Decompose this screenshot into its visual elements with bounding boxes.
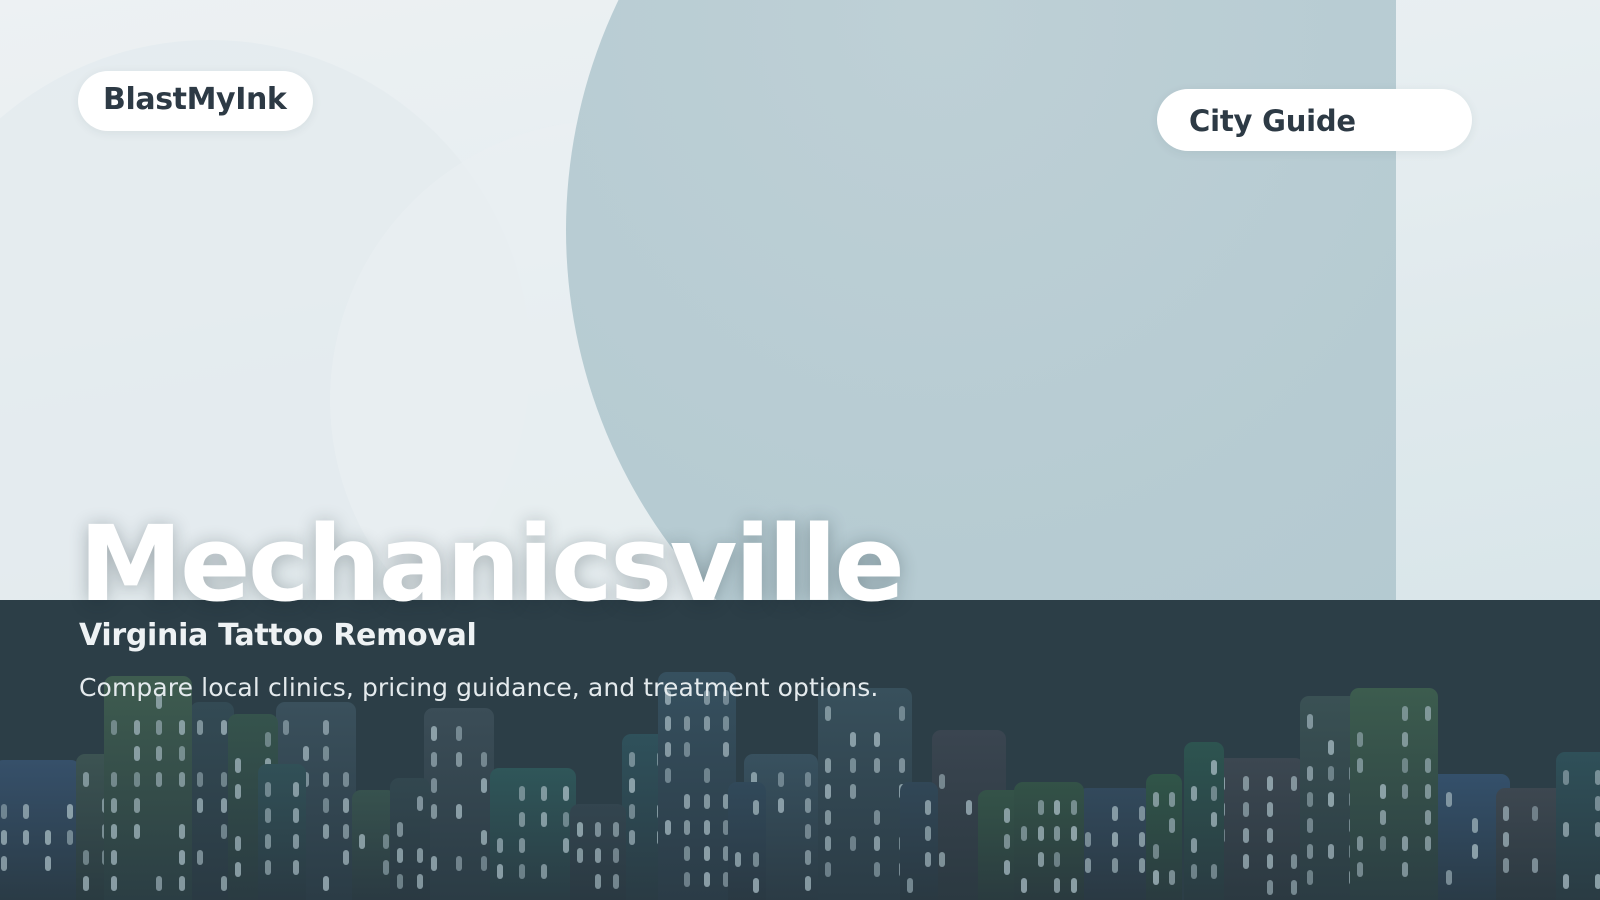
building-window	[778, 798, 784, 813]
building-window	[577, 848, 583, 863]
building-window	[481, 778, 487, 793]
building-window	[1054, 826, 1060, 841]
building-window	[723, 716, 729, 731]
building-window	[519, 838, 525, 853]
building-window	[1004, 808, 1010, 823]
building-window	[704, 872, 710, 887]
building-window	[1307, 792, 1313, 807]
building-window	[265, 808, 271, 823]
building-window	[323, 746, 329, 761]
building-window	[359, 834, 365, 849]
page-subtitle: Virginia Tattoo Removal	[79, 618, 477, 653]
building-window	[1243, 776, 1249, 791]
building-window	[221, 772, 227, 787]
building-window	[1503, 858, 1509, 873]
building-window	[1446, 792, 1452, 807]
building-window	[925, 800, 931, 815]
skyline-building	[390, 778, 430, 900]
building-window	[417, 796, 423, 811]
skyline-building	[818, 688, 912, 900]
building-window	[1307, 870, 1313, 885]
skyline-building	[1078, 788, 1152, 900]
building-window	[1153, 844, 1159, 859]
building-window	[235, 836, 241, 851]
building-window	[1267, 802, 1273, 817]
building-window	[1472, 818, 1478, 833]
building-window	[753, 800, 759, 815]
building-window	[134, 824, 140, 839]
building-window	[805, 824, 811, 839]
building-window	[1563, 822, 1569, 837]
building-window	[45, 856, 51, 871]
building-window	[221, 824, 227, 839]
skyline-building	[1212, 758, 1304, 900]
building-window	[179, 824, 185, 839]
skyline-building	[570, 804, 626, 900]
building-window	[519, 786, 525, 801]
building-window	[1038, 826, 1044, 841]
building-window	[197, 798, 203, 813]
building-window	[265, 782, 271, 797]
building-window	[111, 720, 117, 735]
building-window	[613, 874, 619, 889]
building-window	[1211, 786, 1217, 801]
building-window	[1563, 770, 1569, 785]
building-window	[563, 812, 569, 827]
building-window	[1307, 844, 1313, 859]
building-window	[417, 874, 423, 889]
building-window	[1071, 800, 1077, 815]
building-window	[704, 716, 710, 731]
building-window	[156, 876, 162, 891]
building-window	[1357, 758, 1363, 773]
building-window	[1532, 806, 1538, 821]
building-window	[1021, 826, 1027, 841]
building-window	[343, 850, 349, 865]
building-window	[1112, 832, 1118, 847]
building-window	[805, 876, 811, 891]
building-window	[1357, 732, 1363, 747]
skyline-building	[0, 760, 80, 900]
building-window	[1004, 860, 1010, 875]
building-window	[1402, 862, 1408, 877]
building-window	[1211, 760, 1217, 775]
building-window	[134, 746, 140, 761]
building-window	[778, 772, 784, 787]
skyline-building	[1146, 774, 1182, 900]
building-window	[111, 876, 117, 891]
building-window	[1402, 758, 1408, 773]
building-window	[1503, 806, 1509, 821]
building-window	[179, 850, 185, 865]
building-window	[481, 856, 487, 871]
building-window	[1038, 852, 1044, 867]
building-window	[1139, 806, 1145, 821]
building-window	[497, 864, 503, 879]
building-window	[431, 778, 437, 793]
building-window	[179, 876, 185, 891]
building-window	[1291, 776, 1297, 791]
building-window	[907, 878, 913, 893]
building-window	[925, 826, 931, 841]
building-window	[323, 824, 329, 839]
building-window	[156, 772, 162, 787]
building-window	[1595, 796, 1600, 811]
building-window	[1153, 792, 1159, 807]
building-window	[197, 850, 203, 865]
building-window	[704, 794, 710, 809]
building-window	[1595, 822, 1600, 837]
building-window	[481, 830, 487, 845]
building-window	[1243, 854, 1249, 869]
city-guide-badge-label: City Guide	[1189, 104, 1356, 138]
building-window	[156, 720, 162, 735]
building-window	[1307, 766, 1313, 781]
building-window	[541, 812, 547, 827]
building-window	[1004, 834, 1010, 849]
brand-logo-label: BlastMyInk	[103, 82, 286, 117]
building-window	[684, 716, 690, 731]
building-window	[825, 706, 831, 721]
building-window	[805, 798, 811, 813]
building-window	[179, 772, 185, 787]
building-window	[1153, 870, 1159, 885]
building-window	[753, 852, 759, 867]
building-window	[23, 804, 29, 819]
building-window	[1328, 740, 1334, 755]
building-window	[519, 812, 525, 827]
building-window	[134, 720, 140, 735]
building-window	[1532, 858, 1538, 873]
building-window	[735, 852, 741, 867]
building-window	[1, 804, 7, 819]
building-window	[1307, 714, 1313, 729]
building-window	[825, 862, 831, 877]
building-window	[684, 820, 690, 835]
building-window	[1425, 810, 1431, 825]
city-guide-hero: BlastMyInk City Guide Mechanicsville Vir…	[0, 0, 1600, 900]
building-window	[83, 876, 89, 891]
building-window	[283, 720, 289, 735]
building-window	[134, 772, 140, 787]
building-window	[629, 752, 635, 767]
building-window	[595, 848, 601, 863]
building-window	[343, 824, 349, 839]
building-window	[1139, 858, 1145, 873]
building-window	[1472, 844, 1478, 859]
building-window	[1563, 874, 1569, 889]
building-window	[156, 746, 162, 761]
page-title: Mechanicsville	[79, 509, 902, 619]
building-window	[1425, 784, 1431, 799]
building-window	[323, 720, 329, 735]
building-window	[519, 864, 525, 879]
building-window	[265, 860, 271, 875]
building-window	[1085, 858, 1091, 873]
building-window	[1038, 800, 1044, 815]
building-window	[111, 798, 117, 813]
building-window	[684, 846, 690, 861]
building-window	[1267, 828, 1273, 843]
building-window	[1307, 818, 1313, 833]
building-window	[874, 758, 880, 773]
building-window	[665, 768, 671, 783]
skyline-building	[1556, 752, 1600, 900]
building-window	[577, 822, 583, 837]
building-window	[1503, 832, 1509, 847]
building-window	[1054, 878, 1060, 893]
building-window	[595, 874, 601, 889]
building-window	[1380, 810, 1386, 825]
building-window	[45, 830, 51, 845]
building-window	[397, 874, 403, 889]
building-window	[665, 742, 671, 757]
building-window	[456, 752, 462, 767]
building-window	[293, 782, 299, 797]
building-window	[1021, 878, 1027, 893]
building-window	[431, 804, 437, 819]
building-window	[1169, 818, 1175, 833]
building-window	[1112, 858, 1118, 873]
building-window	[343, 772, 349, 787]
building-window	[1595, 874, 1600, 889]
building-window	[1054, 800, 1060, 815]
building-window	[1402, 784, 1408, 799]
building-window	[23, 830, 29, 845]
building-window	[704, 768, 710, 783]
building-window	[541, 786, 547, 801]
building-window	[1328, 792, 1334, 807]
building-window	[293, 834, 299, 849]
building-window	[235, 862, 241, 877]
building-window	[850, 836, 856, 851]
building-window	[1402, 836, 1408, 851]
building-window	[111, 824, 117, 839]
building-window	[1243, 802, 1249, 817]
building-window	[221, 720, 227, 735]
building-window	[825, 836, 831, 851]
building-window	[925, 852, 931, 867]
building-window	[629, 830, 635, 845]
building-window	[1, 856, 7, 871]
building-window	[1191, 838, 1197, 853]
building-window	[665, 820, 671, 835]
skyline-building	[258, 764, 306, 900]
building-window	[1191, 864, 1197, 879]
building-window	[899, 758, 905, 773]
building-window	[805, 850, 811, 865]
building-window	[481, 752, 487, 767]
building-window	[397, 848, 403, 863]
building-window	[684, 742, 690, 757]
building-window	[629, 778, 635, 793]
building-window	[67, 804, 73, 819]
building-window	[323, 772, 329, 787]
building-window	[456, 804, 462, 819]
building-window	[899, 706, 905, 721]
building-window	[684, 794, 690, 809]
building-window	[1267, 854, 1273, 869]
building-window	[1291, 880, 1297, 895]
building-window	[456, 856, 462, 871]
building-window	[456, 726, 462, 741]
page-description: Compare local clinics, pricing guidance,…	[79, 673, 878, 702]
building-window	[431, 752, 437, 767]
skyline-building	[104, 676, 192, 900]
building-window	[874, 810, 880, 825]
building-window	[1139, 832, 1145, 847]
skyline-building	[490, 768, 576, 900]
skyline-building	[900, 782, 938, 900]
building-window	[595, 822, 601, 837]
building-window	[1380, 836, 1386, 851]
building-window	[850, 784, 856, 799]
building-window	[541, 864, 547, 879]
building-window	[235, 784, 241, 799]
building-window	[939, 852, 945, 867]
building-window	[431, 726, 437, 741]
building-window	[1054, 852, 1060, 867]
building-window	[197, 720, 203, 735]
building-window	[303, 746, 309, 761]
building-window	[343, 798, 349, 813]
building-window	[1402, 706, 1408, 721]
building-window	[1243, 828, 1249, 843]
building-window	[1380, 784, 1386, 799]
building-window	[83, 850, 89, 865]
building-window	[939, 774, 945, 789]
building-window	[753, 878, 759, 893]
building-window	[383, 860, 389, 875]
building-window	[1446, 870, 1452, 885]
building-window	[613, 848, 619, 863]
building-window	[1425, 758, 1431, 773]
building-window	[111, 772, 117, 787]
building-window	[684, 872, 690, 887]
building-window	[67, 830, 73, 845]
building-window	[111, 850, 117, 865]
building-window	[1595, 770, 1600, 785]
building-window	[1211, 864, 1217, 879]
building-window	[1, 830, 7, 845]
building-window	[134, 798, 140, 813]
building-window	[1425, 836, 1431, 851]
building-window	[1357, 836, 1363, 851]
building-window	[417, 848, 423, 863]
building-window	[323, 876, 329, 891]
skyline-building	[424, 708, 494, 900]
building-window	[704, 846, 710, 861]
building-window	[265, 834, 271, 849]
building-window	[966, 800, 972, 815]
building-window	[1169, 870, 1175, 885]
building-window	[1071, 826, 1077, 841]
building-window	[1071, 878, 1077, 893]
building-window	[704, 820, 710, 835]
building-window	[431, 856, 437, 871]
building-window	[197, 772, 203, 787]
building-window	[850, 732, 856, 747]
building-window	[874, 732, 880, 747]
building-window	[83, 772, 89, 787]
building-window	[179, 720, 185, 735]
building-window	[1191, 786, 1197, 801]
building-window	[1328, 844, 1334, 859]
building-window	[1291, 854, 1297, 869]
building-window	[1425, 706, 1431, 721]
building-window	[497, 838, 503, 853]
skyline-building	[728, 782, 766, 900]
building-window	[874, 836, 880, 851]
building-window	[235, 758, 241, 773]
building-window	[323, 798, 329, 813]
building-window	[1267, 880, 1273, 895]
building-window	[1328, 766, 1334, 781]
building-window	[1211, 812, 1217, 827]
skyline-building	[658, 672, 736, 900]
building-window	[293, 808, 299, 823]
building-window	[629, 804, 635, 819]
skyline-building	[1014, 782, 1084, 900]
building-window	[825, 810, 831, 825]
building-window	[874, 862, 880, 877]
building-window	[1169, 792, 1175, 807]
skyline-building	[1350, 688, 1438, 900]
building-window	[613, 822, 619, 837]
building-window	[665, 716, 671, 731]
building-window	[397, 822, 403, 837]
building-window	[1402, 732, 1408, 747]
building-window	[265, 732, 271, 747]
building-window	[563, 786, 569, 801]
building-window	[723, 742, 729, 757]
building-window	[383, 834, 389, 849]
building-window	[825, 758, 831, 773]
building-window	[850, 758, 856, 773]
skyline-building	[1184, 742, 1224, 900]
building-window	[1085, 832, 1091, 847]
building-window	[805, 772, 811, 787]
building-window	[179, 746, 185, 761]
building-window	[1267, 776, 1273, 791]
building-window	[1112, 806, 1118, 821]
building-window	[221, 798, 227, 813]
building-window	[563, 838, 569, 853]
building-window	[1357, 862, 1363, 877]
building-window	[825, 784, 831, 799]
building-window	[221, 876, 227, 891]
building-window	[293, 860, 299, 875]
